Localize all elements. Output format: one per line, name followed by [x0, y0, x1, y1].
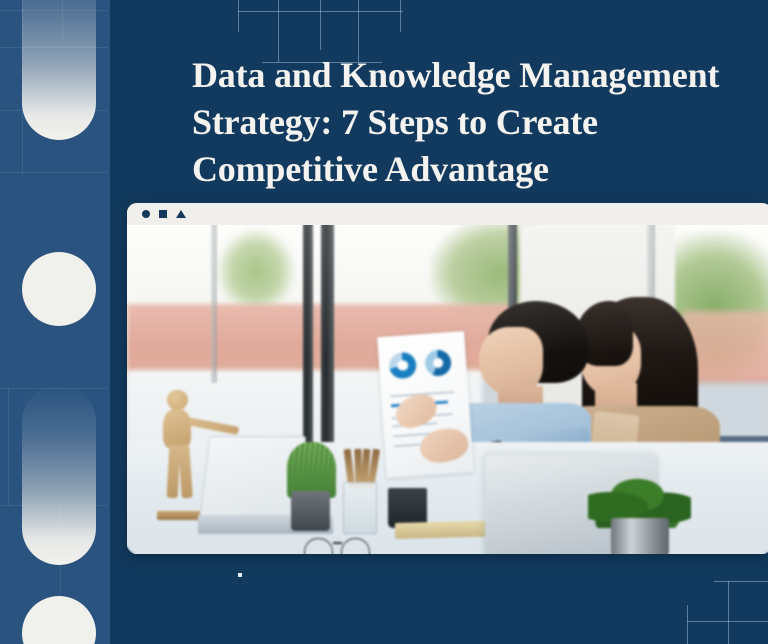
- poster-canvas: Data and Knowledge Management Strategy: …: [0, 0, 768, 644]
- mannequin-head: [167, 390, 188, 411]
- window-mullion: [303, 225, 313, 442]
- title-line-1: Data and Knowledge Management: [192, 52, 752, 99]
- grid-line-horizontal: [238, 11, 403, 12]
- gradient-pill-bottom: [22, 385, 96, 565]
- title-line-3: Competitive Advantage: [192, 146, 752, 193]
- metal-vase: [611, 518, 669, 554]
- pencil-cup: [343, 482, 377, 535]
- grid-line-horizontal: [714, 581, 768, 582]
- donut-chart: [424, 349, 452, 377]
- title-line-2: Strategy: 7 Steps to Create: [192, 99, 752, 146]
- grid-line-vertical: [400, 0, 401, 32]
- browser-viewport: [127, 225, 768, 554]
- grid-line-vertical: [687, 605, 688, 644]
- office-photo: [127, 225, 768, 554]
- gradient-pill-top: [22, 0, 96, 140]
- browser-chrome-bar: [127, 203, 768, 225]
- circle-control-icon[interactable]: [142, 210, 150, 218]
- grid-line-vertical: [320, 0, 321, 50]
- grid-line-horizontal: [0, 172, 108, 173]
- eyeglasses-bridge: [333, 542, 342, 544]
- grass-plant-leaves: [287, 442, 336, 498]
- donut-chart: [389, 351, 417, 379]
- browser-window-mockup: [127, 203, 768, 554]
- grid-line-vertical: [238, 0, 239, 32]
- page-title: Data and Knowledge Management Strategy: …: [192, 52, 752, 193]
- grass-plant-pot: [291, 491, 330, 530]
- grid-line-vertical: [8, 388, 9, 506]
- foliage-left: [217, 228, 294, 314]
- triangle-control-icon[interactable]: [176, 210, 186, 218]
- grid-line-horizontal: [687, 621, 768, 622]
- solid-circle-upper: [22, 252, 96, 326]
- window-mullion: [321, 225, 335, 442]
- window-mullion: [211, 225, 217, 383]
- square-control-icon[interactable]: [159, 210, 167, 218]
- grid-line-vertical: [728, 581, 729, 644]
- accent-dot: [238, 573, 242, 577]
- mannequin-torso: [163, 409, 191, 448]
